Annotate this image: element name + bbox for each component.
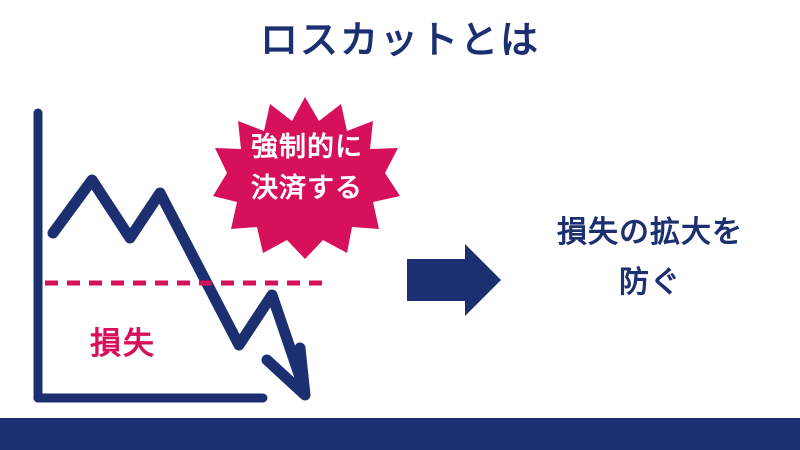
footer-band [0, 418, 800, 450]
starburst-shape [213, 97, 400, 259]
price-line-arrowhead [267, 348, 305, 395]
outcome-line-1: 損失の拡大を [512, 208, 788, 258]
outcome-text: 損失の拡大を 防ぐ [512, 208, 788, 307]
outcome-line-2: 防ぐ [512, 258, 788, 308]
loss-label: 損失 [90, 318, 156, 363]
block-arrow-right-shape [407, 244, 501, 316]
slide-canvas: ロスカットとは 強制的に 決済する 損失 損失の拡大を 防ぐ [0, 0, 800, 450]
